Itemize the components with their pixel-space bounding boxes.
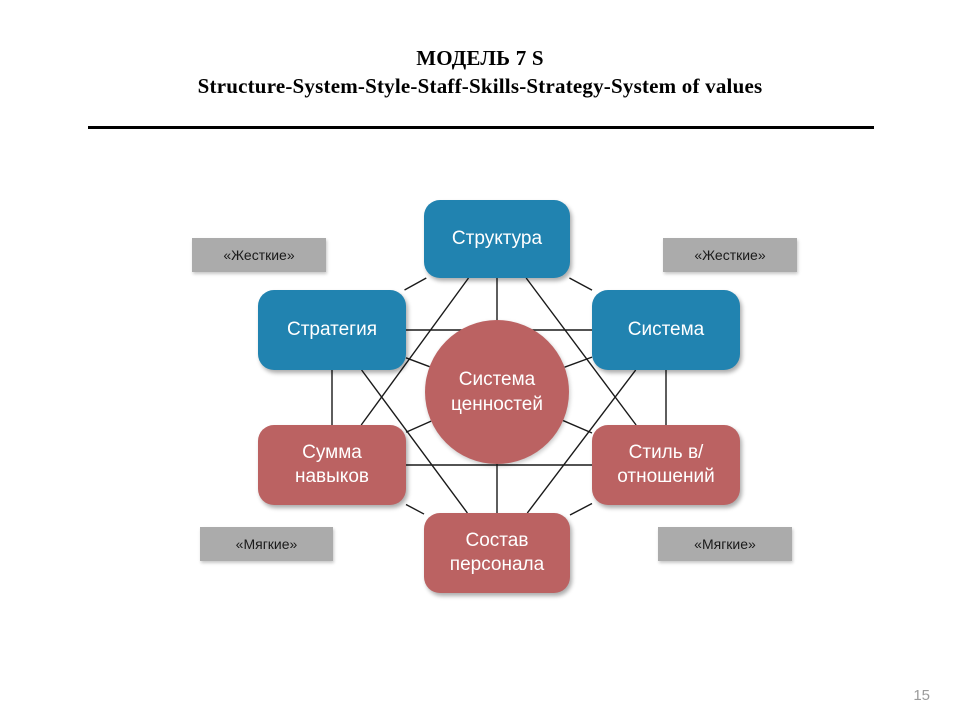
tag-hard-left: «Жесткие» xyxy=(192,238,326,272)
tag-label: «Жесткие» xyxy=(694,247,765,263)
node-values[interactable]: Система ценностей xyxy=(425,320,569,464)
node-label: Сумма навыков xyxy=(295,441,369,489)
tag-soft-left: «Мягкие» xyxy=(200,527,333,561)
node-label: Система ценностей xyxy=(451,367,543,417)
connector-style-to-values xyxy=(563,421,592,433)
tag-hard-right: «Жесткие» xyxy=(663,238,797,272)
tag-label: «Мягкие» xyxy=(694,536,756,552)
node-label: Стратегия xyxy=(287,318,377,342)
connector-style-to-staff xyxy=(570,504,592,515)
node-style[interactable]: Стиль в/ отношений xyxy=(592,425,740,505)
connector-skills-to-values xyxy=(406,421,431,432)
tag-label: «Мягкие» xyxy=(236,536,298,552)
tag-label: «Жесткие» xyxy=(223,247,294,263)
tag-soft-right: «Мягкие» xyxy=(658,527,792,561)
node-label: Система xyxy=(628,318,705,342)
connector-structure-to-system xyxy=(569,278,592,290)
node-skills[interactable]: Сумма навыков xyxy=(258,425,406,505)
page-number: 15 xyxy=(913,687,930,704)
connector-skills-to-staff xyxy=(406,504,424,514)
connector-strategy-to-structure xyxy=(405,278,427,290)
node-label: Структура xyxy=(452,227,542,251)
node-staff[interactable]: Состав персонала xyxy=(424,513,570,593)
node-strategy[interactable]: Стратегия xyxy=(258,290,406,370)
node-label: Стиль в/ отношений xyxy=(617,441,714,489)
connector-system-to-values xyxy=(565,357,592,367)
seven-s-model-diagram: СтруктураСтратегияСистемаСумма навыковСт… xyxy=(0,0,960,720)
node-structure[interactable]: Структура xyxy=(424,200,570,278)
node-system[interactable]: Система xyxy=(592,290,740,370)
node-label: Состав персонала xyxy=(450,529,544,577)
